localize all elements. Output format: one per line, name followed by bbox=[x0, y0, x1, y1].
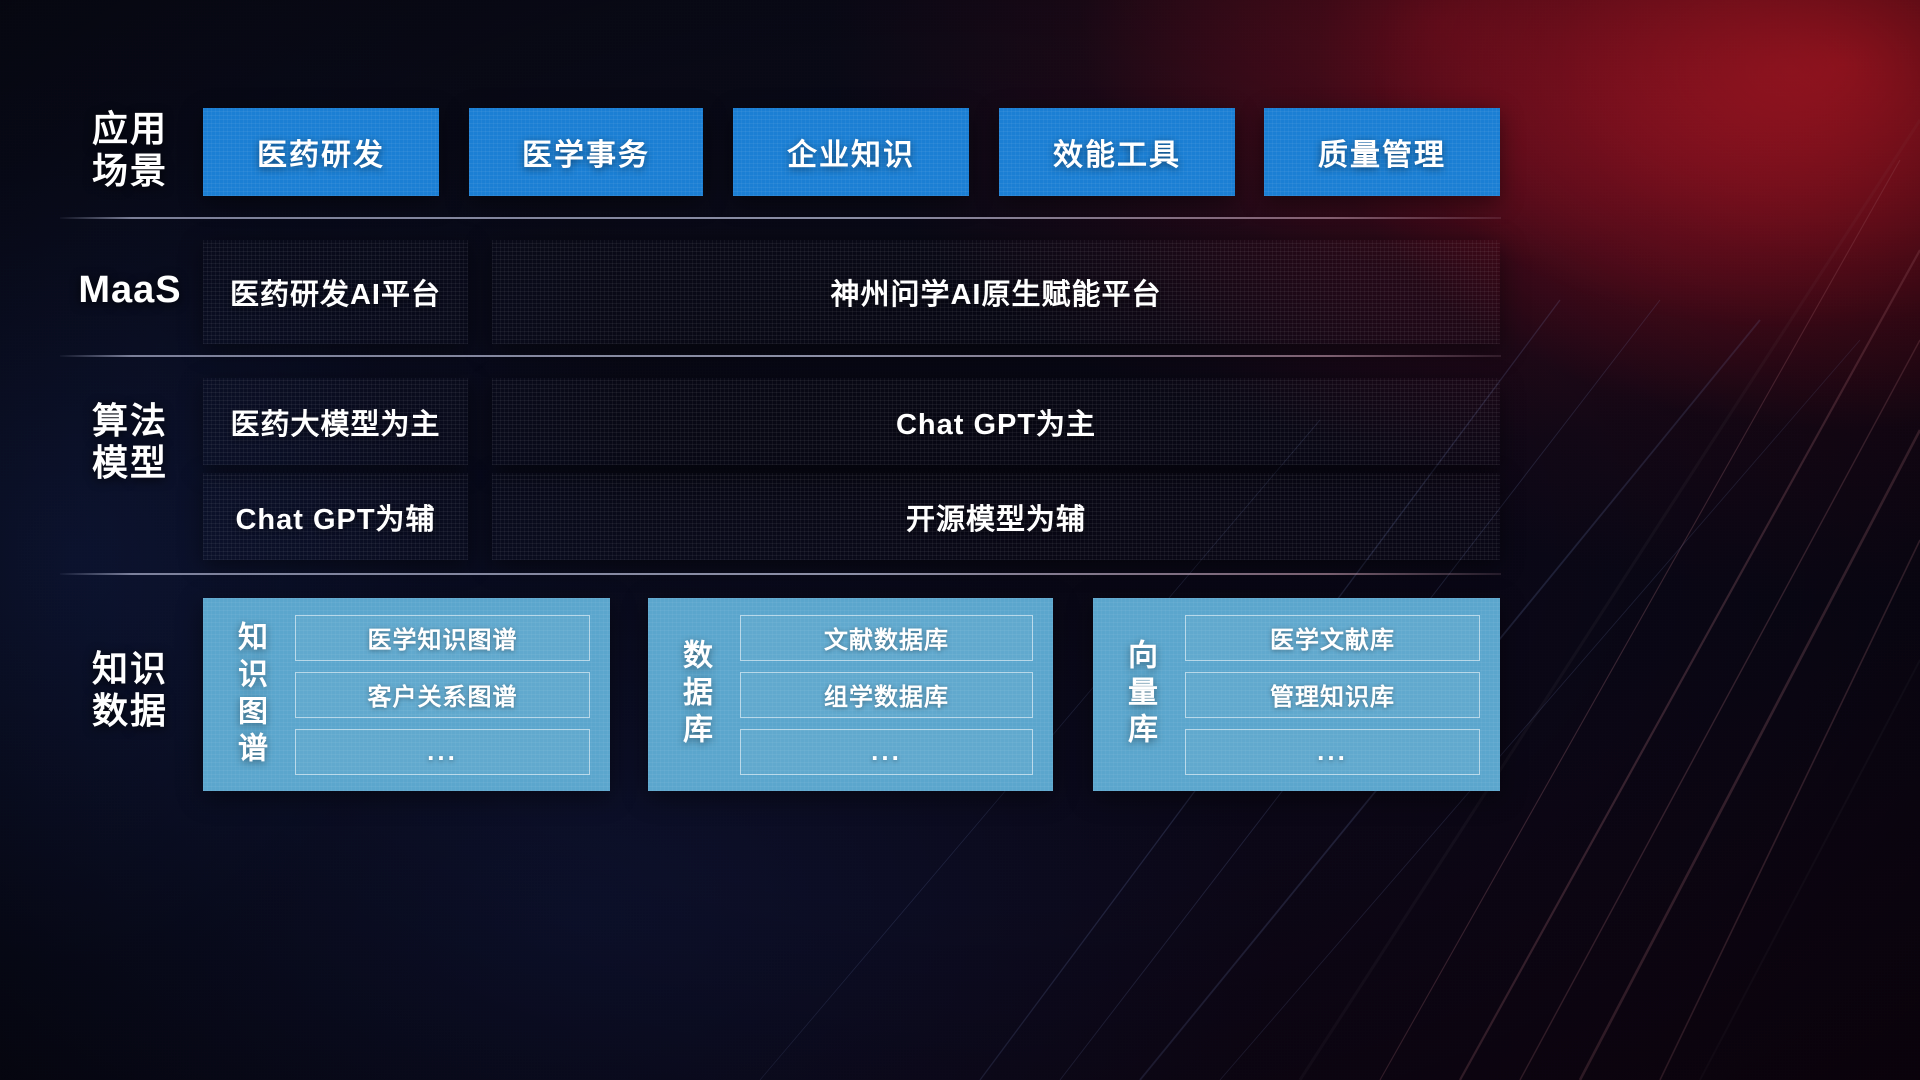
knowledge-item-more-vector[interactable]: ... bbox=[1185, 729, 1480, 775]
divider-after-application bbox=[60, 217, 1501, 219]
algorithm-cell-chatgpt-secondary-label: Chat GPT为辅 bbox=[235, 496, 435, 538]
knowledge-item-more-database[interactable]: ... bbox=[740, 729, 1033, 775]
knowledge-item-medical-knowledge-graph-label: 医学知识图谱 bbox=[368, 620, 518, 655]
row-label-knowledge-line-2: 数据 bbox=[60, 690, 200, 732]
application-cell-medical-affairs[interactable]: 医学事务 bbox=[469, 108, 703, 196]
knowledge-item-medical-literature-store[interactable]: 医学文献库 bbox=[1185, 615, 1480, 661]
row-label-knowledge-data: 知识 数据 bbox=[60, 648, 200, 732]
application-cell-efficiency-tools-label: 效能工具 bbox=[1053, 130, 1181, 174]
knowledge-group-database-items: 文献数据库 组学数据库 ... bbox=[740, 598, 1053, 791]
knowledge-group-database-title: 数据库 bbox=[648, 598, 740, 791]
row-label-knowledge-line-1: 知识 bbox=[60, 648, 200, 690]
knowledge-group-knowledge-graph[interactable]: 知识图谱 医学知识图谱 客户关系图谱 ... bbox=[203, 598, 610, 791]
knowledge-group-vector-store[interactable]: 向量库 医学文献库 管理知识库 ... bbox=[1093, 598, 1500, 791]
architecture-diagram: 应用 场景 医药研发 医学事务 企业知识 效能工具 质量管理 MaaS 医药研发… bbox=[0, 0, 1920, 1080]
algorithm-cell-chatgpt-primary-label: Chat GPT为主 bbox=[896, 401, 1096, 443]
row-label-algo-line-1: 算法 bbox=[60, 400, 200, 442]
row-label-line-1: 应用 bbox=[60, 108, 200, 150]
algorithm-cell-opensource-secondary[interactable]: 开源模型为辅 bbox=[492, 473, 1500, 560]
knowledge-group-vector-store-title: 向量库 bbox=[1093, 598, 1185, 791]
algorithm-cell-opensource-secondary-label: 开源模型为辅 bbox=[906, 496, 1086, 538]
maas-platform-medicine-rd[interactable]: 医药研发AI平台 bbox=[203, 240, 468, 344]
knowledge-item-medical-knowledge-graph[interactable]: 医学知识图谱 bbox=[295, 615, 590, 661]
row-label-maas-line: MaaS bbox=[60, 268, 200, 312]
application-cell-medicine-rd[interactable]: 医药研发 bbox=[203, 108, 439, 196]
maas-platform-medicine-rd-label: 医药研发AI平台 bbox=[230, 271, 441, 313]
knowledge-item-literature-database[interactable]: 文献数据库 bbox=[740, 615, 1033, 661]
knowledge-group-knowledge-graph-title: 知识图谱 bbox=[203, 598, 295, 791]
row-label-algorithm-model: 算法 模型 bbox=[60, 400, 200, 484]
knowledge-item-more-graph[interactable]: ... bbox=[295, 729, 590, 775]
application-cell-medical-affairs-label: 医学事务 bbox=[522, 130, 650, 174]
knowledge-item-more-vector-label: ... bbox=[1317, 736, 1348, 767]
algorithm-cell-chatgpt-secondary[interactable]: Chat GPT为辅 bbox=[203, 473, 468, 560]
row-label-application-scenarios: 应用 场景 bbox=[60, 108, 200, 192]
knowledge-item-customer-relation-graph[interactable]: 客户关系图谱 bbox=[295, 672, 590, 718]
knowledge-group-vector-store-items: 医学文献库 管理知识库 ... bbox=[1185, 598, 1500, 791]
knowledge-item-literature-database-label: 文献数据库 bbox=[824, 620, 949, 655]
knowledge-group-database[interactable]: 数据库 文献数据库 组学数据库 ... bbox=[648, 598, 1053, 791]
algorithm-cell-chatgpt-primary[interactable]: Chat GPT为主 bbox=[492, 378, 1500, 465]
knowledge-group-knowledge-graph-items: 医学知识图谱 客户关系图谱 ... bbox=[295, 598, 610, 791]
knowledge-item-management-knowledge-store[interactable]: 管理知识库 bbox=[1185, 672, 1480, 718]
application-cell-enterprise-knowledge-label: 企业知识 bbox=[787, 130, 915, 174]
application-cell-medicine-rd-label: 医药研发 bbox=[257, 130, 385, 174]
knowledge-item-omics-database-label: 组学数据库 bbox=[824, 677, 949, 712]
knowledge-item-more-database-label: ... bbox=[871, 736, 902, 767]
application-cell-quality-management[interactable]: 质量管理 bbox=[1264, 108, 1500, 196]
knowledge-item-management-knowledge-store-label: 管理知识库 bbox=[1270, 677, 1395, 712]
application-cell-efficiency-tools[interactable]: 效能工具 bbox=[999, 108, 1235, 196]
knowledge-item-omics-database[interactable]: 组学数据库 bbox=[740, 672, 1033, 718]
application-cell-enterprise-knowledge[interactable]: 企业知识 bbox=[733, 108, 969, 196]
row-label-algo-line-2: 模型 bbox=[60, 442, 200, 484]
knowledge-item-more-graph-label: ... bbox=[427, 736, 458, 767]
knowledge-item-customer-relation-graph-label: 客户关系图谱 bbox=[368, 677, 518, 712]
application-cell-quality-management-label: 质量管理 bbox=[1318, 130, 1446, 174]
maas-platform-shenzhou-wenxue[interactable]: 神州问学AI原生赋能平台 bbox=[492, 240, 1500, 344]
maas-platform-shenzhou-wenxue-label: 神州问学AI原生赋能平台 bbox=[830, 271, 1161, 313]
divider-after-maas bbox=[60, 355, 1501, 357]
row-label-line-2: 场景 bbox=[60, 150, 200, 192]
row-label-maas: MaaS bbox=[60, 268, 200, 312]
algorithm-cell-medicine-llm-primary-label: 医药大模型为主 bbox=[230, 401, 440, 443]
knowledge-item-medical-literature-store-label: 医学文献库 bbox=[1270, 620, 1395, 655]
algorithm-cell-medicine-llm-primary[interactable]: 医药大模型为主 bbox=[203, 378, 468, 465]
divider-after-algorithm bbox=[60, 573, 1501, 575]
